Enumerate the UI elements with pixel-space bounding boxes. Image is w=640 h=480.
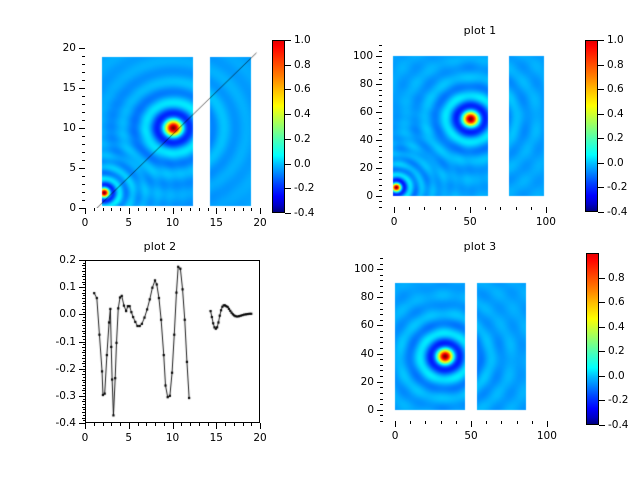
colorbar-tick (285, 213, 291, 214)
y-major-tick (79, 260, 85, 261)
y-minor-tick (380, 309, 383, 310)
y-minor-tick (83, 263, 85, 264)
x-minor-tick (485, 207, 486, 210)
y-minor-tick (83, 328, 85, 329)
y-minor-tick (83, 265, 85, 266)
x-minor-tick (208, 423, 209, 426)
y-minor-tick (379, 73, 382, 74)
x-minor-tick (440, 207, 441, 210)
y-minor-tick (83, 344, 85, 345)
x-minor-tick (138, 208, 139, 211)
y-minor-tick (83, 331, 85, 332)
x-tick-label: 20 (253, 432, 266, 444)
y-minor-tick (380, 275, 383, 276)
y-minor-tick (379, 106, 382, 107)
y-minor-tick (380, 370, 383, 371)
x-minor-tick (103, 208, 104, 211)
panel-title-3: plot 3 (320, 240, 640, 253)
x-minor-tick (456, 421, 457, 424)
heatmap-image-3 (383, 258, 559, 421)
heatmap-canvas-0 (85, 48, 260, 208)
x-minor-tick (120, 423, 121, 426)
y-minor-tick (380, 314, 383, 315)
x-tick-label: 50 (463, 216, 476, 228)
y-tick-label: 0 (69, 202, 76, 214)
x-minor-tick (225, 208, 226, 211)
y-major-tick (79, 48, 85, 49)
y-minor-tick (83, 284, 85, 285)
y-minor-tick (379, 51, 382, 52)
y-minor-tick (82, 120, 85, 121)
y-minor-tick (83, 271, 85, 272)
y-minor-tick (379, 118, 382, 119)
y-minor-tick (83, 358, 85, 359)
y-minor-tick (379, 151, 382, 152)
colorbar-gradient-1 (585, 40, 598, 212)
x-major-tick (547, 421, 548, 427)
colorbar-tick (598, 65, 604, 66)
x-major-tick (173, 423, 174, 429)
y-minor-tick (82, 184, 85, 185)
colorbar-tick-label: -0.4 (608, 419, 629, 431)
colorbar-tick-label: 0.0 (607, 157, 624, 169)
x-major-tick (85, 423, 86, 429)
x-tick-label: 15 (210, 432, 223, 444)
y-minor-tick (83, 407, 85, 408)
y-minor-tick (379, 134, 382, 135)
colorbar-tick-label: 0.0 (608, 370, 625, 382)
x-minor-tick (190, 208, 191, 211)
y-major-tick (79, 128, 85, 129)
y-tick-label: 0 (367, 404, 374, 416)
y-major-tick (376, 140, 382, 141)
y-minor-tick (83, 309, 85, 310)
x-major-tick (216, 423, 217, 429)
y-minor-tick (83, 374, 85, 375)
y-minor-tick (83, 339, 85, 340)
y-tick-label: 80 (360, 78, 373, 90)
x-major-tick (471, 421, 472, 427)
colorbar-tick-label: 0.2 (607, 132, 624, 144)
y-tick-label: 20 (360, 162, 373, 174)
x-minor-tick (94, 208, 95, 211)
x-minor-tick (208, 208, 209, 211)
line-series-canvas (0, 240, 320, 480)
y-minor-tick (379, 201, 382, 202)
y-minor-tick (82, 96, 85, 97)
colorbar-tick (285, 188, 291, 189)
y-tick-label: 40 (361, 348, 374, 360)
x-minor-tick (138, 423, 139, 426)
y-tick-label: 0 (366, 190, 373, 202)
y-minor-tick (379, 162, 382, 163)
x-minor-tick (190, 423, 191, 426)
y-minor-tick (379, 157, 382, 158)
colorbar-tick (285, 164, 291, 165)
y-minor-tick (83, 412, 85, 413)
panel-plot-2: plot 2 05101520-0.4-0.3-0.2-0.10.00.10.2 (0, 240, 320, 480)
y-tick-label: 20 (361, 376, 374, 388)
x-minor-tick (164, 208, 165, 211)
y-minor-tick (83, 361, 85, 362)
y-major-tick (79, 88, 85, 89)
y-major-tick (376, 56, 382, 57)
x-minor-tick (181, 208, 182, 211)
colorbar-tick (599, 351, 605, 352)
x-tick-label: 15 (210, 217, 223, 229)
y-minor-tick (83, 366, 85, 367)
y-minor-tick (82, 56, 85, 57)
colorbar-tick-label: 0.8 (607, 59, 624, 71)
colorbar-tick (598, 212, 604, 213)
colorbar-tick (285, 65, 291, 66)
x-minor-tick (486, 421, 487, 424)
y-minor-tick (83, 274, 85, 275)
x-minor-tick (111, 208, 112, 211)
x-minor-tick (164, 423, 165, 426)
y-minor-tick (380, 342, 383, 343)
x-tick-label: 20 (253, 217, 266, 229)
y-major-tick (376, 112, 382, 113)
x-minor-tick (251, 423, 252, 426)
y-minor-tick (83, 276, 85, 277)
colorbar-tick-label: -0.4 (294, 207, 315, 219)
y-minor-tick (83, 404, 85, 405)
colorbar-tick-label: 0.4 (608, 321, 625, 333)
y-minor-tick (83, 409, 85, 410)
y-major-tick (79, 287, 85, 288)
x-tick-label: 0 (391, 216, 398, 228)
y-minor-tick (83, 322, 85, 323)
y-tick-label: -0.4 (56, 417, 77, 429)
y-minor-tick (379, 79, 382, 80)
y-major-tick (377, 269, 383, 270)
y-minor-tick (380, 421, 383, 422)
y-minor-tick (379, 123, 382, 124)
x-major-tick (470, 207, 471, 213)
x-minor-tick (455, 207, 456, 210)
x-minor-tick (424, 207, 425, 210)
x-minor-tick (409, 207, 410, 210)
panel-plot-3: plot 3 050100020406080100 -0.4-0.20.00.2… (320, 240, 640, 480)
y-tick-label: 100 (354, 263, 374, 275)
colorbar-3: -0.4-0.20.00.20.40.60.8 (586, 253, 640, 425)
x-minor-tick (243, 423, 244, 426)
x-minor-tick (199, 208, 200, 211)
x-tick-label: 10 (166, 432, 179, 444)
x-tick-label: 5 (125, 432, 132, 444)
y-minor-tick (380, 258, 383, 259)
y-minor-tick (380, 365, 383, 366)
y-minor-tick (380, 303, 383, 304)
y-major-tick (79, 168, 85, 169)
y-minor-tick (380, 415, 383, 416)
y-minor-tick (380, 280, 383, 281)
panel-title-1: plot 1 (320, 24, 640, 37)
colorbar-tick-label: 0.6 (607, 83, 624, 95)
y-major-tick (376, 168, 382, 169)
colorbar-tick (285, 139, 291, 140)
x-minor-tick (516, 207, 517, 210)
y-tick-label: 60 (361, 319, 374, 331)
y-minor-tick (380, 320, 383, 321)
colorbar-tick-label: 0.6 (608, 296, 625, 308)
y-minor-tick (379, 95, 382, 96)
y-major-tick (377, 410, 383, 411)
y-minor-tick (82, 160, 85, 161)
y-minor-tick (380, 359, 383, 360)
x-major-tick (216, 208, 217, 214)
y-minor-tick (82, 192, 85, 193)
y-minor-tick (379, 101, 382, 102)
y-minor-tick (83, 312, 85, 313)
y-minor-tick (83, 295, 85, 296)
y-minor-tick (83, 420, 85, 421)
y-minor-tick (83, 279, 85, 280)
y-major-tick (79, 208, 85, 209)
x-minor-tick (234, 208, 235, 211)
x-minor-tick (111, 423, 112, 426)
colorbar-gradient-3 (586, 253, 599, 425)
y-major-tick (79, 423, 85, 424)
colorbar-tick (598, 40, 604, 41)
y-major-tick (79, 369, 85, 370)
x-minor-tick (103, 423, 104, 426)
y-tick-label: 40 (360, 134, 373, 146)
colorbar-tick-label: 0.2 (608, 345, 625, 357)
y-minor-tick (380, 376, 383, 377)
colorbar-tick-label: 1.0 (294, 34, 311, 46)
colorbar-tick (598, 138, 604, 139)
y-minor-tick (83, 388, 85, 389)
panel-plot-1: plot 1 050100020406080100 -0.4-0.20.00.2… (320, 0, 640, 240)
colorbar-tick-label: 0.4 (607, 108, 624, 120)
y-tick-label: 15 (63, 82, 76, 94)
y-minor-tick (83, 385, 85, 386)
x-tick-label: 100 (537, 430, 557, 442)
x-minor-tick (517, 421, 518, 424)
y-minor-tick (83, 347, 85, 348)
y-minor-tick (82, 64, 85, 65)
y-minor-tick (82, 176, 85, 177)
colorbar-1: -0.4-0.20.00.20.40.60.81.0 (585, 40, 640, 212)
y-minor-tick (82, 152, 85, 153)
y-major-tick (377, 382, 383, 383)
y-minor-tick (379, 62, 382, 63)
x-minor-tick (531, 207, 532, 210)
colorbar-tick-label: -0.2 (607, 181, 628, 193)
x-minor-tick (425, 421, 426, 424)
y-minor-tick (83, 355, 85, 356)
y-minor-tick (83, 380, 85, 381)
panel-plot-0: 0510152005101520 -0.4-0.20.00.20.40.60.8… (0, 0, 320, 240)
colorbar-tick (285, 89, 291, 90)
x-minor-tick (243, 208, 244, 211)
y-minor-tick (379, 129, 382, 130)
y-major-tick (376, 196, 382, 197)
x-minor-tick (199, 423, 200, 426)
y-minor-tick (83, 363, 85, 364)
y-minor-tick (83, 418, 85, 419)
y-minor-tick (379, 185, 382, 186)
y-minor-tick (83, 350, 85, 351)
y-tick-label: 20 (63, 42, 76, 54)
y-minor-tick (380, 337, 383, 338)
x-minor-tick (410, 421, 411, 424)
y-minor-tick (82, 72, 85, 73)
y-major-tick (376, 84, 382, 85)
y-minor-tick (83, 290, 85, 291)
y-major-tick (79, 342, 85, 343)
colorbar-tick (599, 278, 605, 279)
x-tick-label: 100 (536, 216, 556, 228)
heatmap-image-0 (85, 48, 260, 208)
colorbar-tick-label: -0.4 (607, 206, 628, 218)
heatmap-canvas-3 (383, 258, 559, 421)
x-minor-tick (441, 421, 442, 424)
colorbar-tick (285, 40, 291, 41)
x-tick-label: 5 (125, 217, 132, 229)
y-major-tick (377, 297, 383, 298)
y-minor-tick (380, 387, 383, 388)
x-minor-tick (234, 423, 235, 426)
y-tick-label: -0.2 (56, 363, 77, 375)
colorbar-tick-label: 0.8 (608, 272, 625, 284)
y-minor-tick (380, 331, 383, 332)
y-minor-tick (379, 90, 382, 91)
y-minor-tick (82, 136, 85, 137)
colorbar-tick (285, 114, 291, 115)
x-minor-tick (120, 208, 121, 211)
y-minor-tick (82, 112, 85, 113)
y-tick-label: 60 (360, 106, 373, 118)
x-minor-tick (500, 207, 501, 210)
colorbar-tick (599, 376, 605, 377)
x-tick-label: 0 (82, 432, 89, 444)
y-minor-tick (379, 67, 382, 68)
y-minor-tick (83, 382, 85, 383)
y-minor-tick (83, 268, 85, 269)
heatmap-canvas-1 (382, 45, 558, 207)
y-minor-tick (380, 393, 383, 394)
y-minor-tick (83, 303, 85, 304)
y-minor-tick (83, 333, 85, 334)
y-minor-tick (83, 325, 85, 326)
colorbar-gradient-0 (272, 40, 285, 213)
x-major-tick (129, 423, 130, 429)
y-minor-tick (379, 179, 382, 180)
colorbar-tick-label: -0.2 (608, 394, 629, 406)
colorbar-tick-label: 0.6 (294, 83, 311, 95)
colorbar-tick (599, 400, 605, 401)
y-minor-tick (82, 80, 85, 81)
x-major-tick (129, 208, 130, 214)
y-tick-label: 0.2 (59, 254, 76, 266)
colorbar-tick (598, 163, 604, 164)
x-major-tick (85, 208, 86, 214)
colorbar-tick-label: 0.0 (294, 158, 311, 170)
x-minor-tick (146, 208, 147, 211)
y-minor-tick (83, 371, 85, 372)
y-minor-tick (380, 399, 383, 400)
y-tick-label: 100 (353, 50, 373, 62)
x-tick-label: 10 (166, 217, 179, 229)
colorbar-tick (598, 89, 604, 90)
x-major-tick (173, 208, 174, 214)
y-minor-tick (83, 401, 85, 402)
x-minor-tick (94, 423, 95, 426)
figure-canvas: 0510152005101520 -0.4-0.20.00.20.40.60.8… (0, 0, 640, 480)
y-minor-tick (380, 292, 383, 293)
colorbar-tick (598, 187, 604, 188)
y-minor-tick (83, 399, 85, 400)
y-minor-tick (380, 348, 383, 349)
y-minor-tick (83, 301, 85, 302)
x-tick-label: 50 (464, 430, 477, 442)
y-tick-label: 5 (69, 162, 76, 174)
y-minor-tick (83, 377, 85, 378)
y-minor-tick (380, 404, 383, 405)
y-minor-tick (83, 390, 85, 391)
y-minor-tick (83, 298, 85, 299)
y-minor-tick (83, 282, 85, 283)
x-major-tick (394, 207, 395, 213)
colorbar-tick (598, 114, 604, 115)
y-minor-tick (83, 293, 85, 294)
y-minor-tick (83, 306, 85, 307)
colorbar-tick-label: 0.4 (294, 108, 311, 120)
heatmap-image-1 (382, 45, 558, 207)
x-minor-tick (146, 423, 147, 426)
y-minor-tick (83, 393, 85, 394)
y-minor-tick (379, 190, 382, 191)
x-minor-tick (225, 423, 226, 426)
y-minor-tick (379, 207, 382, 208)
colorbar-tick-label: 0.2 (294, 133, 311, 145)
x-minor-tick (155, 423, 156, 426)
colorbar-tick (599, 302, 605, 303)
x-minor-tick (251, 208, 252, 211)
x-tick-label: 0 (82, 217, 89, 229)
y-major-tick (79, 314, 85, 315)
colorbar-tick-label: 1.0 (607, 34, 624, 46)
y-minor-tick (379, 45, 382, 46)
y-major-tick (377, 354, 383, 355)
x-minor-tick (181, 423, 182, 426)
x-minor-tick (532, 421, 533, 424)
colorbar-tick (599, 327, 605, 328)
y-tick-label: 80 (361, 291, 374, 303)
y-minor-tick (380, 264, 383, 265)
y-minor-tick (83, 317, 85, 318)
y-tick-label: 0.0 (59, 308, 76, 320)
x-minor-tick (155, 208, 156, 211)
y-minor-tick (379, 146, 382, 147)
y-minor-tick (82, 104, 85, 105)
y-minor-tick (83, 336, 85, 337)
x-major-tick (260, 423, 261, 429)
y-tick-label: 0.1 (59, 281, 76, 293)
x-major-tick (260, 208, 261, 214)
x-tick-label: 0 (392, 430, 399, 442)
y-minor-tick (380, 286, 383, 287)
y-minor-tick (83, 320, 85, 321)
x-major-tick (546, 207, 547, 213)
y-major-tick (377, 325, 383, 326)
y-minor-tick (379, 173, 382, 174)
y-minor-tick (82, 144, 85, 145)
colorbar-tick-label: -0.2 (294, 182, 315, 194)
